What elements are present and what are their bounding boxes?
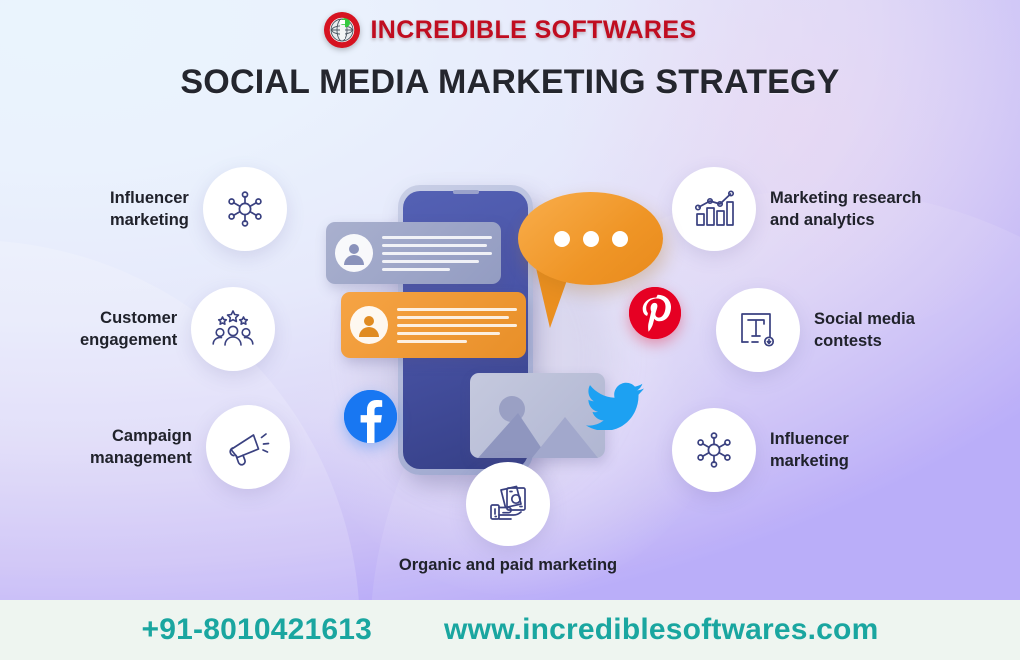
footer-website[interactable]: www.incrediblesoftwares.com [444, 613, 878, 647]
message-lines [382, 236, 492, 271]
feature-label: Customer engagement [80, 307, 177, 352]
feature-icon-bubble [466, 462, 550, 546]
feature-icon-bubble [716, 288, 800, 372]
page-title: SOCIAL MEDIA MARKETING STRATEGY [0, 63, 1020, 102]
phone-notch [453, 190, 479, 194]
text-tool-icon [736, 309, 780, 351]
incredible-softwares-globe-logo-icon [323, 11, 361, 49]
brand-name: INCREDIBLE SOFTWARES [370, 16, 696, 45]
chat-dot [554, 231, 570, 247]
chat-bubble [518, 192, 663, 285]
message-lines [397, 308, 517, 343]
people-stars-icon [210, 307, 256, 351]
feature-influencer-marketing-left: Influencer marketing [110, 167, 287, 251]
feature-customer-engagement: Customer engagement [80, 287, 275, 371]
twitter-bird-icon[interactable] [586, 382, 646, 430]
feature-label: Influencer marketing [110, 187, 189, 232]
network-nodes-icon [223, 187, 267, 231]
feature-icon-bubble [206, 405, 290, 489]
brand-bar: INCREDIBLE SOFTWARES [0, 10, 1020, 50]
avatar [335, 234, 373, 272]
feature-label: Social media contests [814, 308, 915, 353]
phone-illustration [318, 160, 708, 510]
avatar [350, 306, 388, 344]
chat-dot [612, 231, 628, 247]
feature-label: Campaign management [90, 425, 192, 470]
feature-icon-bubble [203, 167, 287, 251]
feature-social-media-contests: Social media contests [716, 288, 915, 372]
megaphone-icon [225, 425, 271, 469]
footer-bar: +91-8010421613 www.incrediblesoftwares.c… [0, 600, 1020, 660]
hand-holding-money-icon [485, 482, 531, 526]
feature-campaign-management: Campaign management [90, 405, 290, 489]
image-post-card [470, 373, 605, 458]
facebook-icon[interactable] [344, 390, 397, 443]
message-card-grey [326, 222, 501, 284]
feature-label: Organic and paid marketing [399, 554, 617, 576]
chat-dot [583, 231, 599, 247]
message-card-orange [341, 292, 526, 358]
pinterest-icon[interactable] [629, 287, 681, 339]
feature-label: Marketing research and analytics [770, 187, 921, 232]
feature-marketing-research-analytics: Marketing research and analytics [672, 167, 921, 251]
infographic-poster: INCREDIBLE SOFTWARES SOCIAL MEDIA MARKET… [0, 0, 1020, 660]
feature-label: Influencer marketing [770, 428, 849, 473]
feature-organic-paid-marketing: Organic and paid marketing [373, 462, 643, 576]
feature-icon-bubble [191, 287, 275, 371]
footer-phone[interactable]: +91-8010421613 [142, 613, 373, 647]
